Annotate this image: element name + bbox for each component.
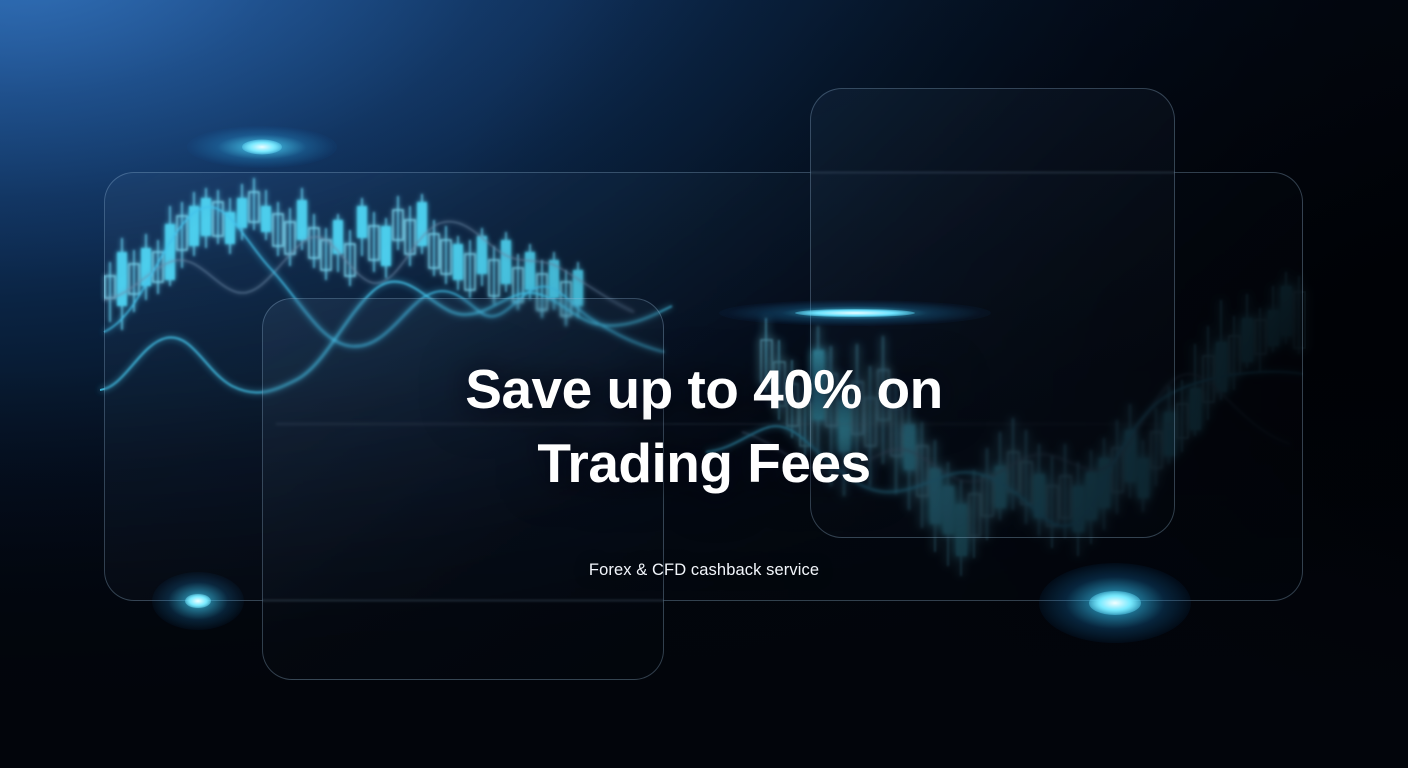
page-subtitle: Forex & CFD cashback service — [0, 561, 1408, 580]
hero-banner: Save up to 40% on Trading Fees Forex & C… — [0, 0, 1408, 768]
page-title: Save up to 40% on Trading Fees — [0, 352, 1408, 500]
